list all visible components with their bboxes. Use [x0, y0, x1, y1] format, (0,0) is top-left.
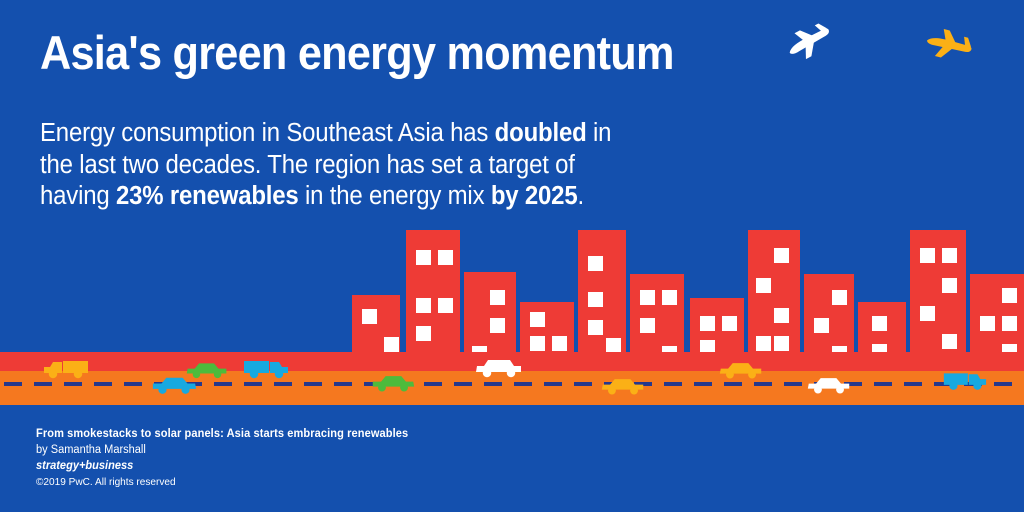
building — [464, 272, 516, 360]
cyan-truck-2-icon — [940, 368, 988, 394]
building-window — [588, 292, 603, 307]
building-window — [872, 316, 887, 331]
orange-car-1-icon — [600, 373, 646, 399]
road-dash — [514, 382, 532, 386]
building — [690, 298, 744, 360]
building-window — [640, 318, 655, 333]
building-window — [756, 278, 771, 293]
building-window — [588, 320, 603, 335]
building-window — [774, 308, 789, 323]
building-window — [920, 248, 935, 263]
building-window — [662, 290, 677, 305]
building — [406, 230, 460, 360]
article-headline[interactable]: From smokestacks to solar panels: Asia s… — [36, 426, 408, 442]
body-paragraph: Energy consumption in Southeast Asia has… — [40, 118, 623, 213]
building-window — [774, 336, 789, 351]
road-dash — [124, 382, 142, 386]
building-window — [774, 248, 789, 263]
body-text: Energy consumption in Southeast Asia has — [40, 119, 495, 147]
building-window — [490, 318, 505, 333]
copyright-notice: ©2019 PwC. All rights reserved — [36, 475, 408, 490]
building — [352, 295, 400, 360]
building-window — [416, 298, 431, 313]
white-plane-icon — [778, 15, 841, 71]
road-dash — [334, 382, 352, 386]
road-dash — [784, 382, 802, 386]
road-dash — [694, 382, 712, 386]
building-window — [832, 290, 847, 305]
road-dash — [214, 382, 232, 386]
building-window — [416, 250, 431, 265]
road-dash — [424, 382, 442, 386]
road-dash — [94, 382, 112, 386]
body-emphasis: by 2025 — [491, 182, 578, 210]
road-dash — [904, 382, 922, 386]
green-car-2-icon — [370, 370, 416, 396]
building-window — [606, 338, 621, 353]
road-dash — [4, 382, 22, 386]
road-dash — [664, 382, 682, 386]
road-dash — [874, 382, 892, 386]
building-window — [920, 306, 935, 321]
building — [970, 274, 1024, 360]
road-dash — [544, 382, 562, 386]
building-window — [942, 278, 957, 293]
building-window — [384, 337, 399, 352]
building — [578, 230, 626, 360]
building-window — [700, 316, 715, 331]
cyan-car-icon — [150, 372, 198, 398]
yellow-plane-icon — [918, 22, 977, 70]
yellow-truck-icon — [42, 355, 92, 383]
footer-credits: From smokestacks to solar panels: Asia s… — [36, 426, 424, 490]
building-window — [438, 250, 453, 265]
building-window — [552, 336, 567, 351]
building-window — [980, 316, 995, 331]
body-emphasis: 23% renewables — [116, 182, 299, 210]
body-text: . — [577, 182, 583, 210]
building — [804, 274, 854, 360]
building-window — [942, 334, 957, 349]
page-title: Asia's green energy momentum — [40, 25, 674, 81]
building-window — [530, 312, 545, 327]
road-dash — [454, 382, 472, 386]
building-window — [530, 336, 545, 351]
building — [630, 274, 684, 360]
white-car-icon — [806, 372, 852, 398]
body-text: in the energy mix — [299, 182, 491, 210]
orange-car-2-icon — [718, 357, 764, 383]
building-window — [942, 248, 957, 263]
road-dash — [484, 382, 502, 386]
white-suv-icon — [474, 354, 524, 382]
cyan-truck-icon — [240, 355, 290, 383]
road-dash — [574, 382, 592, 386]
building-window — [438, 298, 453, 313]
body-emphasis: doubled — [495, 119, 587, 147]
building-window — [1002, 288, 1017, 303]
article-author: by Samantha Marshall — [36, 442, 408, 458]
building-window — [814, 318, 829, 333]
building-window — [640, 290, 655, 305]
building-window — [490, 290, 505, 305]
building-window — [722, 316, 737, 331]
building-window — [1002, 316, 1017, 331]
city-skyline — [0, 230, 1024, 360]
brand-name: strategy+business — [36, 458, 408, 475]
building-window — [588, 256, 603, 271]
road-dash — [994, 382, 1012, 386]
building — [748, 230, 800, 360]
road-dash — [304, 382, 322, 386]
building-window — [416, 326, 431, 341]
building-window — [362, 309, 377, 324]
building-window — [756, 336, 771, 351]
infographic-canvas: Asia's green energy momentum Energy cons… — [0, 0, 1024, 512]
building — [910, 230, 966, 360]
